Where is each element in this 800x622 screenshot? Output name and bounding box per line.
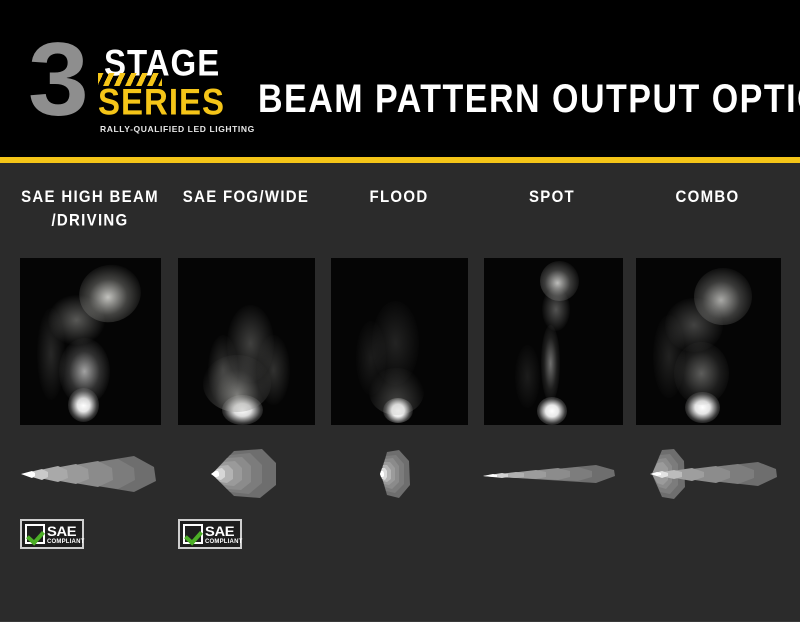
sae-badge-title: SAE: [205, 524, 244, 538]
column-combo: COMBO: [630, 163, 785, 622]
column-label-line1: SAE HIGH BEAM: [21, 187, 159, 206]
logo-numeral-3: 3: [28, 28, 85, 132]
column-label-line1: COMBO: [676, 187, 740, 206]
sae-badge-text: SAE COMPLIANT: [205, 524, 242, 545]
beam-diagram-spot: [478, 443, 626, 505]
sae-badge-title: SAE: [47, 524, 86, 538]
column-label-line1: SPOT: [529, 187, 575, 206]
beam-diagram-combo: [630, 443, 785, 505]
logo-word-series: SERIES: [98, 83, 225, 120]
sae-badge-text: SAE COMPLIANT: [47, 524, 84, 545]
column-label: SAE FOG/WIDE: [172, 185, 320, 209]
stage-series-logo: 3 STAGE SERIES RALLY-QUALIFIED LED LIGHT…: [28, 26, 238, 134]
sae-compliant-badge: SAE COMPLIANT: [178, 519, 242, 549]
beam-pattern-infographic: 3 STAGE SERIES RALLY-QUALIFIED LED LIGHT…: [0, 0, 800, 622]
sae-badge-inner: SAE COMPLIANT: [180, 521, 240, 547]
column-spot: SPOT: [478, 163, 626, 622]
sae-badge-inner: SAE COMPLIANT: [22, 521, 82, 547]
beam-diagram-sae-high-beam: [14, 443, 166, 505]
beam-photo: [20, 258, 161, 425]
checkmark-icon: [25, 524, 45, 544]
logo-tagline: RALLY-QUALIFIED LED LIGHTING: [100, 125, 255, 134]
column-sae-high-beam: SAE HIGH BEAM /DRIVING: [14, 163, 166, 622]
column-label: SAE HIGH BEAM /DRIVING: [14, 185, 166, 232]
column-label-line2: /DRIVING: [51, 211, 128, 230]
checkmark-icon: [183, 524, 203, 544]
column-label: COMBO: [630, 185, 785, 209]
column-flood: FLOOD: [325, 163, 473, 622]
header-bar: 3 STAGE SERIES RALLY-QUALIFIED LED LIGHT…: [0, 0, 800, 157]
sae-badge-subtitle: COMPLIANT: [205, 539, 242, 545]
beam-photo: [484, 258, 623, 425]
page-title: BEAM PATTERN OUTPUT OPTIONS: [258, 78, 800, 120]
beam-photo: [331, 258, 468, 425]
column-label-line1: FLOOD: [370, 187, 429, 206]
beam-photo: [636, 258, 781, 425]
column-label: FLOOD: [325, 185, 473, 209]
beam-diagram-sae-fog-wide: [172, 443, 320, 505]
beam-diagram-flood: [325, 443, 473, 505]
column-label-line1: SAE FOG/WIDE: [183, 187, 309, 206]
sae-compliant-badge: SAE COMPLIANT: [20, 519, 84, 549]
beam-photo: [178, 258, 315, 425]
sae-badge-subtitle: COMPLIANT: [47, 539, 84, 545]
column-sae-fog-wide: SAE FOG/WIDE: [172, 163, 320, 622]
column-label: SPOT: [478, 185, 626, 209]
beam-columns: SAE HIGH BEAM /DRIVING: [0, 163, 800, 622]
logo-word-series-text: SERIES: [98, 81, 225, 122]
